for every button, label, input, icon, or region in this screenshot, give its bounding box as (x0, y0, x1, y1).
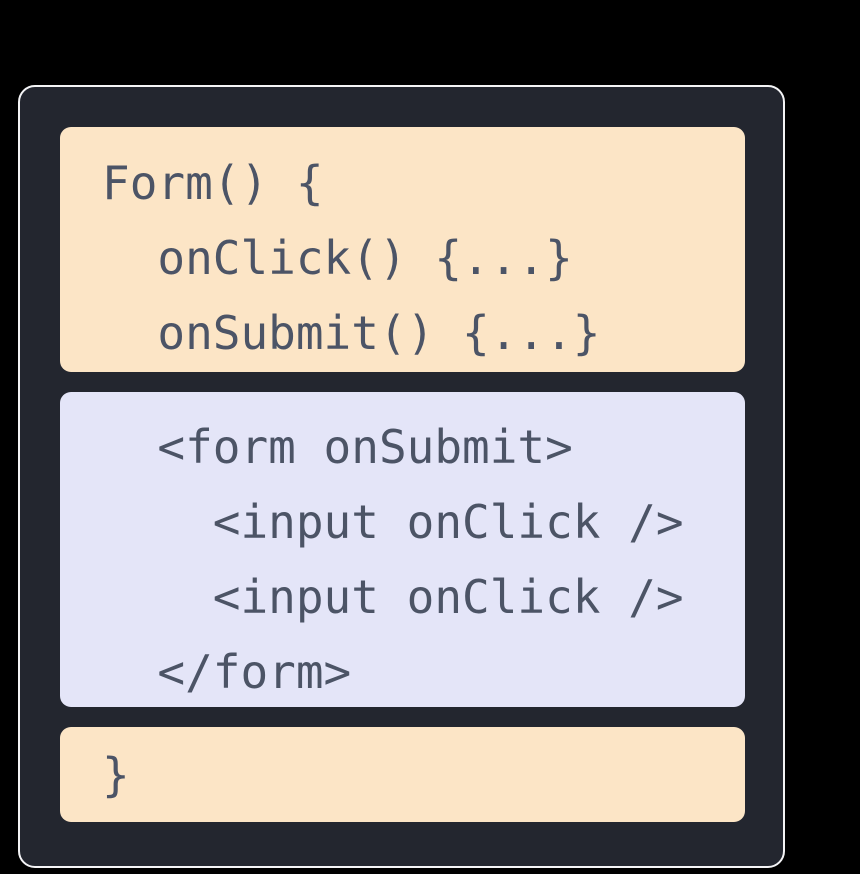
code-line: </form> (60, 635, 745, 707)
code-block-markup: <form onSubmit> <input onClick /> <input… (60, 392, 745, 707)
code-line: <input onClick /> (60, 485, 745, 560)
code-line: Form() { (60, 146, 745, 221)
code-line: } (60, 738, 745, 813)
code-line-list: Form() { onClick() {...} onSubmit() {...… (60, 127, 745, 371)
code-line-list: <form onSubmit> <input onClick /> <input… (60, 392, 745, 707)
code-line: onClick() {...} (60, 221, 745, 296)
code-line: <input onClick /> (60, 560, 745, 635)
code-card: Form() { onClick() {...} onSubmit() {...… (18, 85, 785, 868)
code-line-list: } (60, 727, 745, 813)
code-block-component-tail: } (60, 727, 745, 822)
code-block-component-head: Form() { onClick() {...} onSubmit() {...… (60, 127, 745, 372)
code-line: <form onSubmit> (60, 410, 745, 485)
code-line: onSubmit() {...} (60, 296, 745, 371)
illustration-canvas: Form() { onClick() {...} onSubmit() {...… (0, 0, 860, 874)
